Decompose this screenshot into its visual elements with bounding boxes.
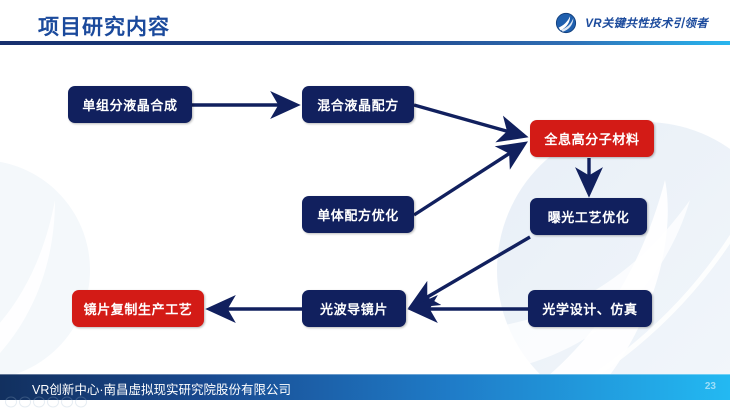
slide-canvas: 项目研究内容 VR关键共性技术引领者 xyxy=(0,0,730,410)
decorative-dots xyxy=(4,396,114,408)
flow-node-label: 光波导镜片 xyxy=(320,299,388,318)
arrow-n4-n3 xyxy=(414,144,524,215)
flow-node-label: 全息高分子材料 xyxy=(544,129,639,148)
slide-header: 项目研究内容 VR关键共性技术引领者 xyxy=(0,0,730,48)
footer-page-number: 23 xyxy=(705,381,716,392)
flow-node-optical-design-simulation[interactable]: 光学设计、仿真 xyxy=(528,290,652,327)
brand-slogan: VR关键共性技术引领者 xyxy=(585,15,708,31)
flow-node-label: 曝光工艺优化 xyxy=(548,207,630,226)
flow-node-waveguide-lens[interactable]: 光波导镜片 xyxy=(302,290,406,327)
flow-node-mixed-lc-formula[interactable]: 混合液晶配方 xyxy=(302,86,414,123)
brand-lockup: VR关键共性技术引领者 xyxy=(555,12,708,34)
flow-node-label: 光学设计、仿真 xyxy=(542,299,637,318)
flow-node-label: 单组分液晶合成 xyxy=(82,95,177,114)
flow-node-label: 混合液晶配方 xyxy=(317,95,399,114)
globe-swoosh-logo-icon xyxy=(555,12,577,34)
arrow-n5-n7 xyxy=(412,237,530,306)
flow-diagram: 单组分液晶合成 混合液晶配方 全息高分子材料 单体配方优化 曝光工艺优化 镜片复… xyxy=(0,48,730,370)
footer-top-highlight xyxy=(0,374,730,375)
flow-node-holographic-polymer-material[interactable]: 全息高分子材料 xyxy=(530,120,654,157)
flow-node-label: 镜片复制生产工艺 xyxy=(84,299,193,318)
flow-node-lens-replication-production[interactable]: 镜片复制生产工艺 xyxy=(72,290,204,327)
flow-node-monomer-formula-optimization[interactable]: 单体配方优化 xyxy=(302,196,414,233)
header-divider-highlight xyxy=(0,45,730,46)
page-title: 项目研究内容 xyxy=(38,11,170,41)
flow-node-label: 单体配方优化 xyxy=(317,205,399,224)
arrow-n2-n3 xyxy=(414,105,524,136)
flow-node-exposure-process-optimization[interactable]: 曝光工艺优化 xyxy=(530,198,647,235)
flow-node-single-component-lc-synthesis[interactable]: 单组分液晶合成 xyxy=(68,86,192,123)
